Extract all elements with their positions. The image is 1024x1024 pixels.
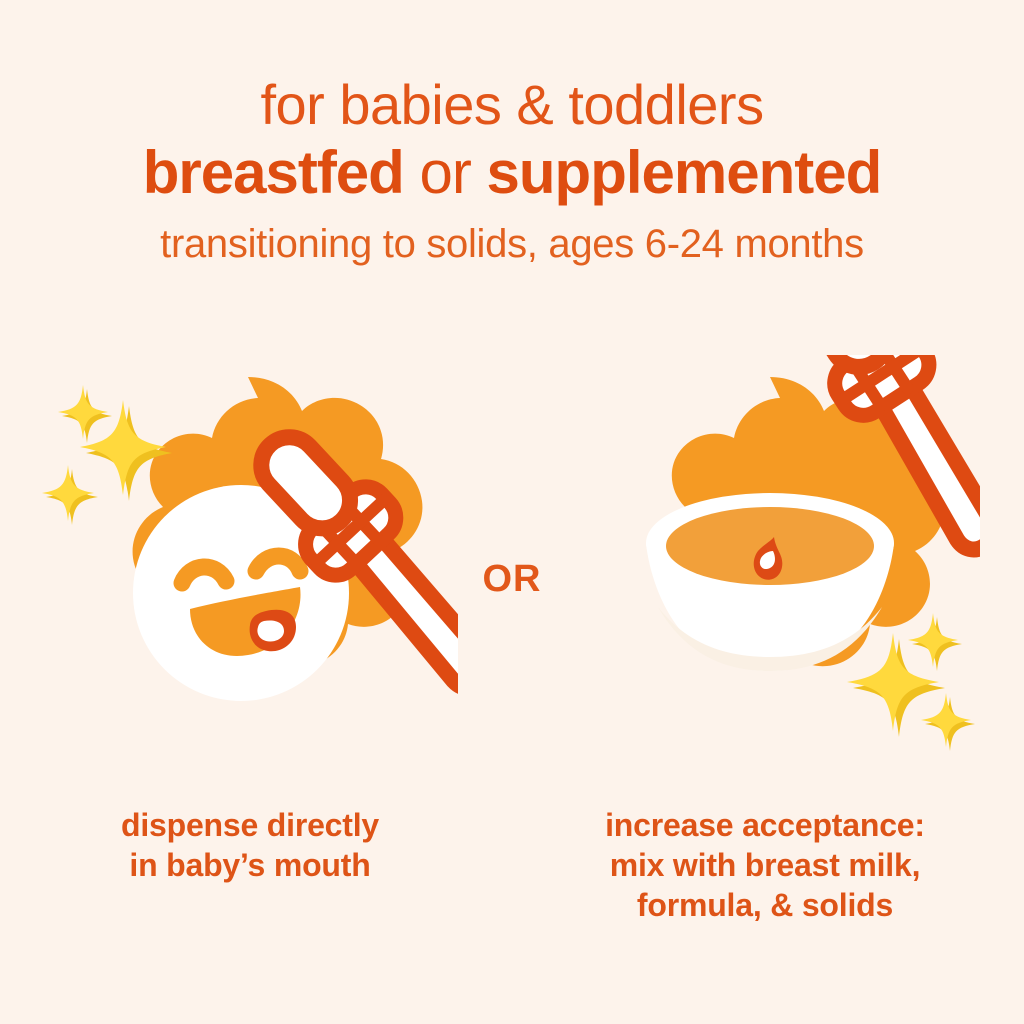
- sparkle-group-left: [42, 385, 172, 525]
- header-block: for babies & toddlers breastfed or suppl…: [0, 74, 1024, 268]
- caption-mix-in-food: increase acceptance: mix with breast mil…: [545, 805, 985, 925]
- or-divider-label: OR: [462, 558, 562, 601]
- headline-word-breastfed: breastfed: [143, 139, 404, 206]
- caption-line: in baby’s mouth: [40, 845, 460, 885]
- caption-line: formula, & solids: [545, 885, 985, 925]
- headline-word-supplemented: supplemented: [487, 139, 882, 206]
- infographic-page: for babies & toddlers breastfed or suppl…: [0, 0, 1024, 1024]
- caption-dispense-direct: dispense directly in baby’s mouth: [40, 805, 460, 885]
- headline-line-1: for babies & toddlers: [0, 74, 1024, 136]
- tongue-highlight: [257, 620, 284, 641]
- headline-line-2: breastfed or supplemented: [0, 138, 1024, 208]
- headline-line-3: transitioning to solids, ages 6-24 month…: [0, 220, 1024, 268]
- captions-row: dispense directly in baby’s mouth increa…: [0, 805, 1024, 965]
- caption-line: dispense directly: [40, 805, 460, 845]
- headline-word-or: or: [404, 139, 487, 206]
- caption-line: increase acceptance:: [545, 805, 985, 845]
- panel-mix-in-food: [560, 355, 980, 775]
- caption-line: mix with breast milk,: [545, 845, 985, 885]
- panel-dispense-direct: [38, 355, 458, 775]
